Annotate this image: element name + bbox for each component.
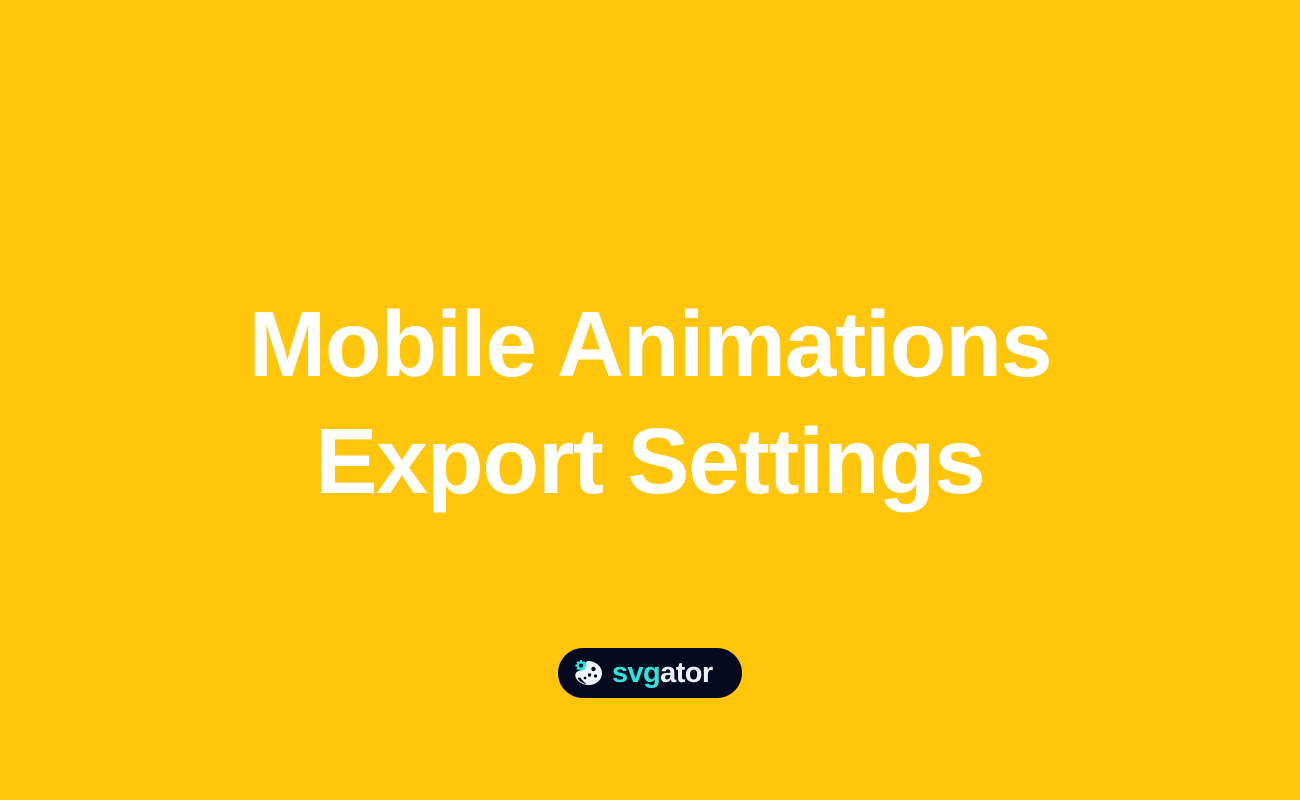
slide-canvas: Mobile Animations Export Settings bbox=[0, 0, 1300, 800]
brand-wordmark-ator: ator bbox=[660, 659, 712, 688]
page-title: Mobile Animations Export Settings bbox=[0, 286, 1300, 520]
brand-logo: svg ator bbox=[0, 648, 1300, 698]
page-title-line-1: Mobile Animations bbox=[40, 286, 1260, 403]
brand-wordmark-svg: svg bbox=[612, 659, 660, 688]
brand-logo-pill: svg ator bbox=[558, 648, 742, 698]
brand-wordmark: svg ator bbox=[612, 659, 713, 688]
page-title-line-2: Export Settings bbox=[40, 403, 1260, 520]
svgator-gator-gear-icon bbox=[573, 659, 603, 687]
